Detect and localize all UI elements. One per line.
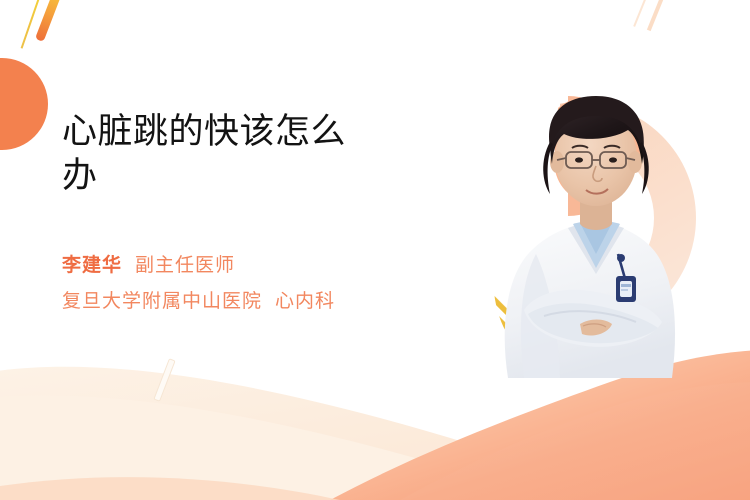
doctor-name-row: 李建华 副主任医师 <box>62 248 422 284</box>
doctor-byline: 李建华 副主任医师 复旦大学附属中山医院 心内科 <box>62 248 422 320</box>
pale-diagonal-stroke-icon-a <box>647 0 667 31</box>
poster-canvas: 心脏跳的快该怎么 办 李建华 副主任医师 复旦大学附属中山医院 心内科 <box>0 0 750 500</box>
page-title: 心脏跳的快该怎么 办 <box>62 110 422 198</box>
doctor-portrait-illustration <box>440 78 720 378</box>
pale-diagonal-stroke-icon-b <box>633 0 651 27</box>
cream-sliver-decor <box>153 358 175 402</box>
doctor-name: 李建华 <box>62 248 122 284</box>
doctor-title: 副主任医师 <box>135 248 235 284</box>
doctor-affiliation-row: 复旦大学附属中山医院 心内科 <box>62 284 422 320</box>
doctor-department: 心内科 <box>275 284 335 320</box>
doctor-hospital: 复旦大学附属中山医院 <box>62 284 262 320</box>
orange-diagonal-stroke-icon <box>35 0 62 42</box>
doctor-photo-group <box>440 78 720 378</box>
yellow-diagonal-line-icon <box>21 0 42 49</box>
orange-circle-decor <box>0 58 48 150</box>
text-block: 心脏跳的快该怎么 办 李建华 副主任医师 复旦大学附属中山医院 心内科 <box>62 110 422 320</box>
